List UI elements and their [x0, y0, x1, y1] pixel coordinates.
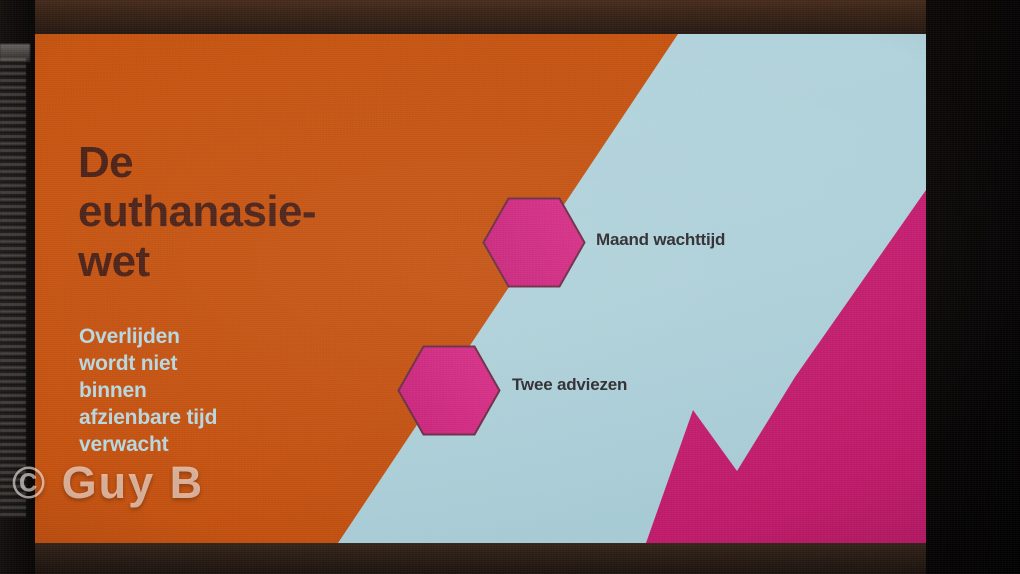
room-wall-right-of-screen	[926, 0, 1020, 574]
presentation-slide: De euthanasie- wet Overlijden wordt niet…	[35, 34, 926, 543]
projected-slide-photo: De euthanasie- wet Overlijden wordt niet…	[0, 0, 1020, 574]
room-wall-below-screen	[0, 543, 1020, 574]
slide-artwork	[35, 34, 926, 543]
room-wall-above-screen	[0, 0, 1020, 34]
window-blind-icon	[0, 58, 26, 518]
